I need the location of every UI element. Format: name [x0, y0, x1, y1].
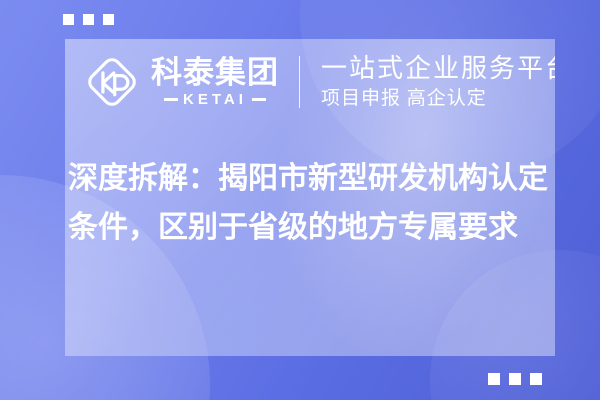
banner-header: 科泰集团 KETAI 一站式企业服务平台 项目申报 高企认定 — [83, 53, 555, 111]
promo-banner: 科泰集团 KETAI 一站式企业服务平台 项目申报 高企认定 深度拆解：揭阳市新… — [0, 0, 600, 400]
brand-rule-left — [164, 98, 178, 101]
decorative-dots-top-left — [63, 14, 114, 25]
brand-name-en: KETAI — [183, 92, 247, 107]
brand-name-en-row: KETAI — [164, 92, 266, 107]
tagline-block: 一站式企业服务平台 项目申报 高企认定 — [321, 54, 555, 111]
tagline-main: 一站式企业服务平台 — [321, 54, 555, 83]
headline-title: 深度拆解：揭阳市新型研发机构认定条件，区别于省级的地方专属要求 — [68, 154, 568, 252]
decorative-dots-bottom-right — [488, 373, 542, 385]
tagline-sub: 项目申报 高企认定 — [321, 87, 555, 111]
ketai-diamond-kp-logo-icon — [83, 53, 141, 111]
brand-wordmark: 科泰集团 KETAI — [151, 57, 279, 108]
square-dot-icon — [509, 373, 521, 385]
square-dot-icon — [63, 14, 74, 25]
square-dot-icon — [103, 14, 114, 25]
header-divider — [299, 56, 300, 108]
brand-rule-right — [252, 98, 266, 101]
square-dot-icon — [83, 14, 94, 25]
brand-lockup: 科泰集团 KETAI — [83, 53, 279, 111]
square-dot-icon — [488, 373, 500, 385]
square-dot-icon — [530, 373, 542, 385]
brand-name-cn: 科泰集团 — [151, 57, 279, 90]
